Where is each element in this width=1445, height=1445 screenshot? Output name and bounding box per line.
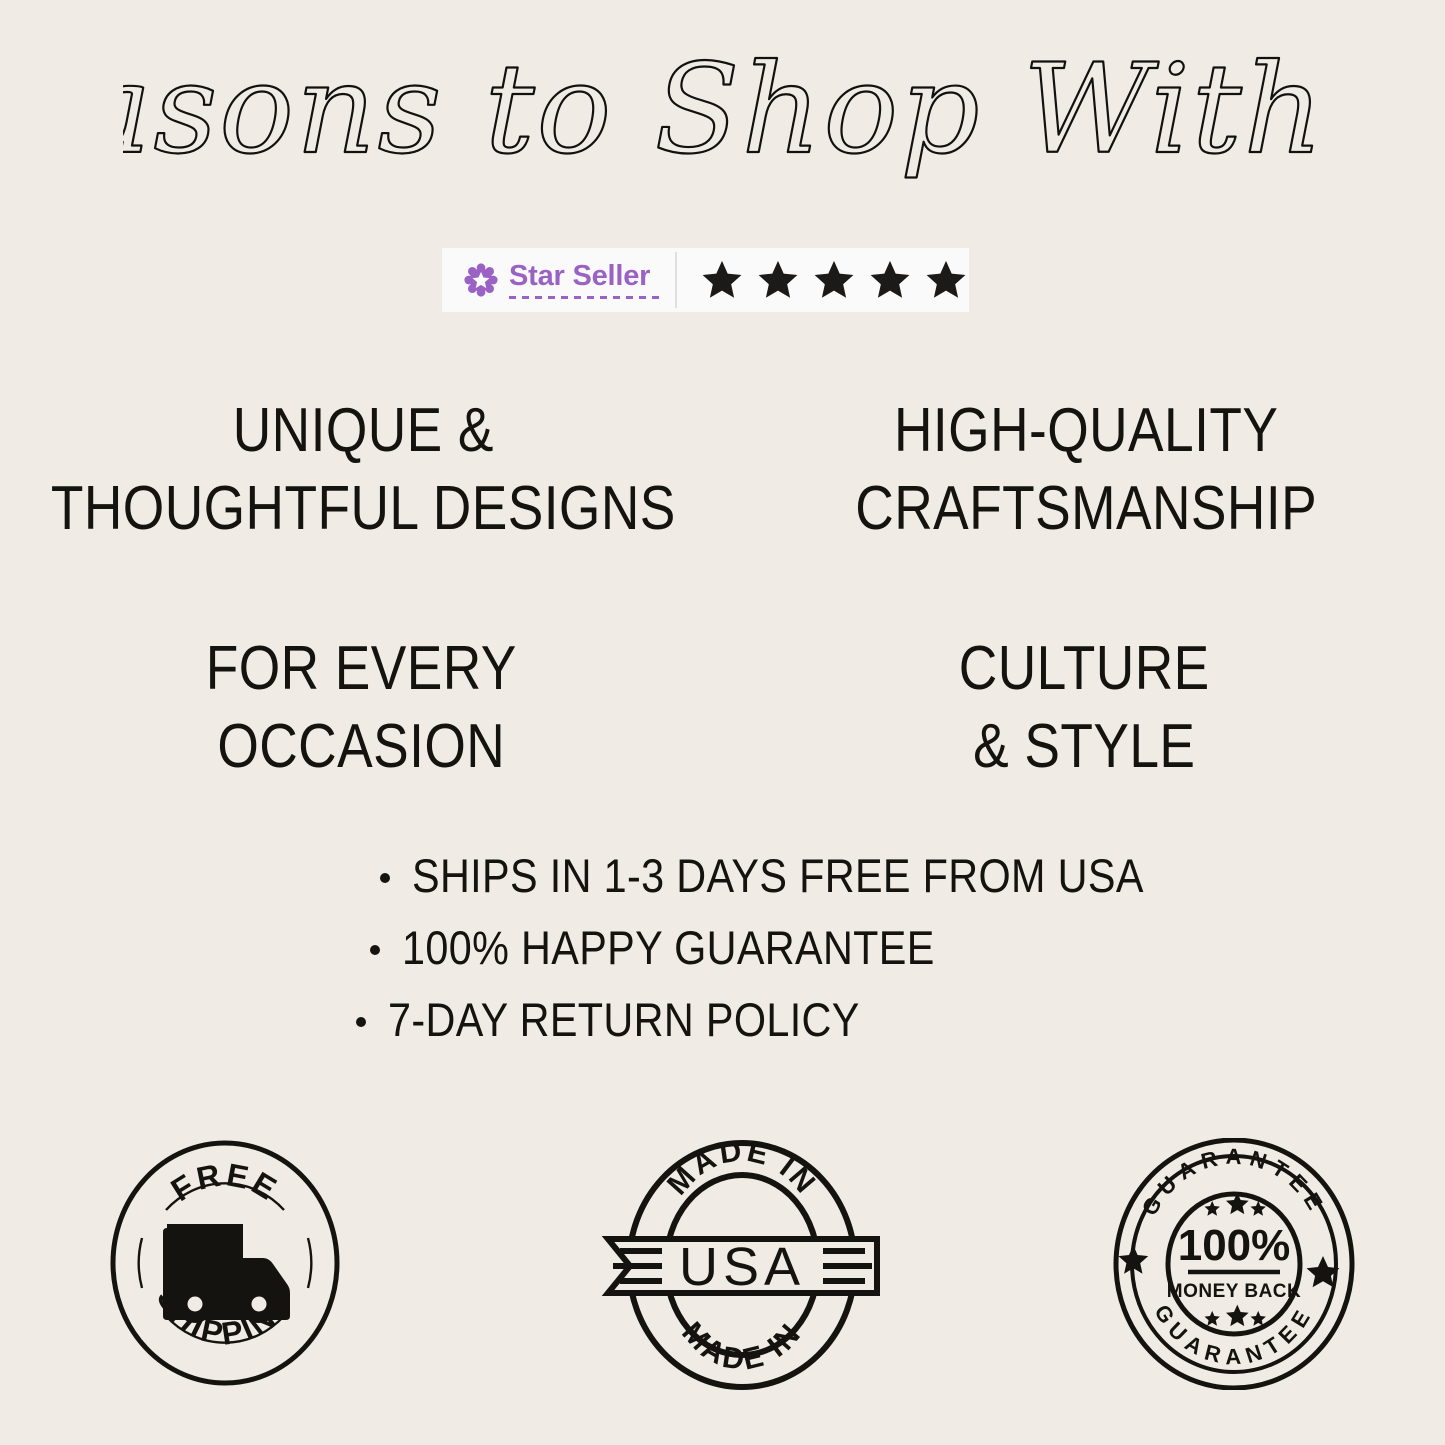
trust-badge-row: FREE SHIPPING: [0, 1138, 1445, 1408]
star-rating: [677, 258, 969, 302]
star-cluster-bottom: [1205, 1305, 1266, 1327]
star-icon: [1205, 1201, 1220, 1216]
list-item: SHIPS IN 1-3 DAYS FREE FROM USA: [380, 848, 1156, 904]
star-seller-left: Star Seller: [442, 262, 675, 299]
promo-graphic: Reasons to Shop With Us S: [0, 0, 1445, 1445]
list-item: 7-DAY RETURN POLICY: [356, 992, 1156, 1048]
list-item-label: 100% HAPPY GUARANTEE: [402, 920, 935, 976]
feature-culture-style: CULTURE & STYLE: [723, 630, 1445, 786]
star-icon: [1226, 1305, 1249, 1327]
title-label: Reasons to Shop With Us: [123, 38, 1323, 182]
feature-line: CULTURE: [773, 630, 1394, 708]
bullet-dot-icon: [356, 1017, 366, 1027]
free-shipping-stamp-icon: FREE SHIPPING: [104, 1138, 346, 1388]
badge-percent-label: 100%: [1178, 1221, 1291, 1270]
star-icon: [867, 258, 913, 302]
star-icon: [755, 258, 801, 302]
bullet-dot-icon: [370, 945, 380, 955]
feature-unique-designs: UNIQUE & THOUGHTFUL DESIGNS: [0, 392, 727, 548]
star-seller-text-block: Star Seller: [509, 262, 661, 299]
title-script-text: Reasons to Shop With Us: [123, 34, 1323, 194]
feature-line: UNIQUE &: [51, 392, 676, 470]
badge-free-shipping: FREE SHIPPING: [104, 1138, 346, 1388]
feature-line: FOR EVERY: [51, 630, 672, 708]
feature-row: UNIQUE & THOUGHTFUL DESIGNS HIGH-QUALITY…: [0, 392, 1445, 548]
star-icon: [811, 258, 857, 302]
feature-line: THOUGHTFUL DESIGNS: [51, 470, 676, 548]
badge-bottom-label: MADE IN: [675, 1316, 808, 1377]
feature-line: HIGH-QUALITY: [777, 392, 1395, 470]
star-icon: [699, 258, 745, 302]
star-icon: [1251, 1311, 1266, 1326]
badge-top-label: MADE IN: [661, 1138, 823, 1201]
badge-sub-label: MONEY BACK: [1167, 1281, 1302, 1302]
page-title: Reasons to Shop With Us: [0, 34, 1445, 194]
feature-line: & STYLE: [773, 708, 1394, 786]
badge-money-back-guarantee: GUARANTEE GUARANTEE 100% MONEY BACK: [1110, 1138, 1358, 1390]
list-item-label: 7-DAY RETURN POLICY: [388, 992, 860, 1048]
star-icon: [923, 258, 969, 302]
feature-high-quality: HIGH-QUALITY CRAFTSMANSHIP: [727, 392, 1445, 548]
made-in-usa-stamp-icon: MADE IN MADE IN USA: [600, 1138, 885, 1393]
benefits-list: SHIPS IN 1-3 DAYS FREE FROM USA 100% HAP…: [356, 848, 1156, 1064]
star-icon: [1205, 1311, 1220, 1326]
ribbon-banner-icon: USA: [608, 1237, 877, 1297]
star-seller-label: Star Seller: [509, 262, 650, 291]
guarantee-stamp-icon: GUARANTEE GUARANTEE 100% MONEY BACK: [1110, 1138, 1358, 1390]
bullet-dot-icon: [380, 873, 390, 883]
list-item: 100% HAPPY GUARANTEE: [370, 920, 1156, 976]
star-seller-dashed-underline: [509, 296, 661, 299]
star-seller-badge: Star Seller: [442, 248, 969, 312]
feature-line: OCCASION: [51, 708, 672, 786]
feature-every-occasion: FOR EVERY OCCASION: [0, 630, 723, 786]
delivery-truck-icon: [163, 1224, 290, 1323]
list-item-label: SHIPS IN 1-3 DAYS FREE FROM USA: [412, 848, 1144, 904]
feature-grid: UNIQUE & THOUGHTFUL DESIGNS HIGH-QUALITY…: [0, 392, 1445, 786]
feature-line: CRAFTSMANSHIP: [777, 470, 1395, 548]
feature-row: FOR EVERY OCCASION CULTURE & STYLE: [0, 630, 1445, 786]
star-seller-rosette-icon: [464, 263, 498, 297]
badge-made-in-usa: MADE IN MADE IN USA: [600, 1138, 885, 1393]
badge-ribbon-label: USA: [679, 1237, 805, 1297]
